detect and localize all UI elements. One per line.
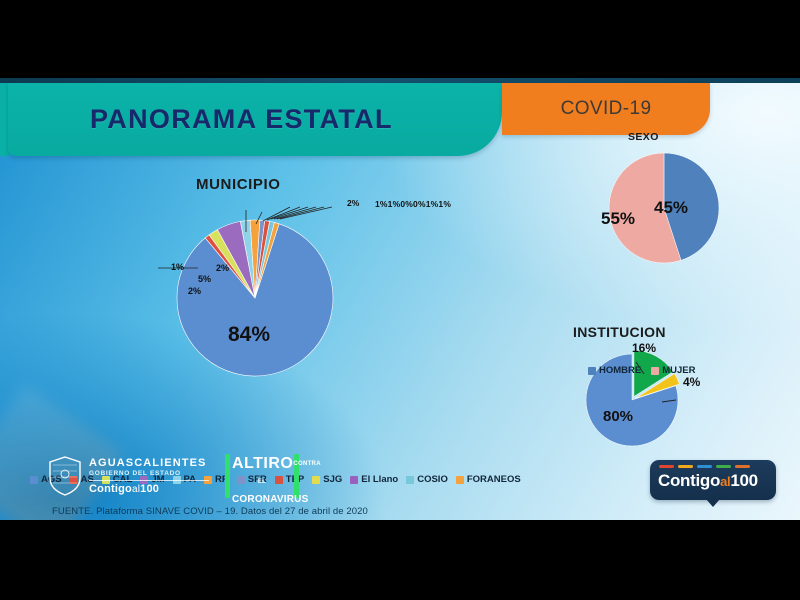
aguascalientes-wordmark: AGUASCALIENTES GOBIERNO DEL ESTADO Conti… <box>89 457 209 496</box>
legend-swatch-icon <box>350 476 358 484</box>
legend-label: HOMBRE <box>599 365 641 376</box>
legend-label: COSIO <box>417 474 448 485</box>
badge-tail <box>706 499 720 507</box>
slogan-main: Contigo <box>89 483 132 495</box>
altiro-left-bar <box>225 454 230 498</box>
footer-logos: AGUASCALIENTES GOBIERNO DEL ESTADO Conti… <box>48 454 299 498</box>
slogan: Contigoal100 <box>89 483 209 496</box>
institucion-label-issste: 4% <box>683 375 700 389</box>
sexo-label-hombre: 45% <box>654 198 688 218</box>
legend-label: SJG <box>323 474 342 485</box>
municipio-chart-title: MUNICIPIO <box>196 176 281 193</box>
legend-swatch-icon <box>406 476 414 484</box>
badge-main: Contigo <box>658 471 720 490</box>
altiro-coronavirus-logo: ALTIROCONTRA EL CORONAVIRUS <box>225 454 299 498</box>
letterbox-top <box>0 0 800 78</box>
institucion-label-imss: 16% <box>632 341 656 355</box>
municipio-pie-chart[interactable] <box>140 190 370 390</box>
badge-dash-0 <box>659 465 674 468</box>
municipio-label-top-row: 1%1%0%0%1%1% <box>375 199 451 209</box>
municipio-label-5pct: 5% <box>198 274 211 284</box>
altiro-title: ALTIROCONTRA EL <box>232 455 292 491</box>
municipio-label-2pct-left: 2% <box>188 286 201 296</box>
legend-item-sjg[interactable]: SJG <box>312 474 342 485</box>
page-title: PANORAMA ESTATAL <box>90 104 393 135</box>
covid19-tab[interactable]: COVID-19 <box>502 83 710 135</box>
contigo-al-100-badge: Contigoal100 <box>650 460 776 500</box>
legend-swatch-icon <box>651 367 659 375</box>
slide-content: PANORAMA ESTATAL COVID-19 MUNICIPIO SEXO… <box>0 78 800 520</box>
altiro-subtitle: CORONAVIRUS <box>232 494 292 506</box>
letterbox-bottom <box>0 520 800 600</box>
state-subtitle: GOBIERNO DEL ESTADO <box>89 469 209 478</box>
institucion-chart-title: INSTITUCION <box>573 324 666 340</box>
sexo-label-mujer: 55% <box>601 209 635 229</box>
slogan-num: 100 <box>140 483 159 495</box>
covid19-tab-label: COVID-19 <box>561 98 652 120</box>
badge-dash-2 <box>697 465 712 468</box>
legend-item-cosio[interactable]: COSIO <box>406 474 448 485</box>
municipio-label-2pct-top: 2% <box>347 198 359 208</box>
badge-num: 100 <box>730 471 757 490</box>
badge-color-dashes <box>659 465 750 468</box>
badge-wordmark: Contigoal100 <box>658 471 758 491</box>
divider-rule <box>89 480 209 481</box>
municipio-label-84pct: 84% <box>228 323 270 347</box>
badge-al: al <box>720 474 730 489</box>
institucion-pie-chart[interactable] <box>578 344 688 454</box>
municipio-pie-slices <box>177 220 333 376</box>
legend-swatch-icon <box>588 367 596 375</box>
light-streak-decoration <box>0 384 124 520</box>
legend-item-hombre[interactable]: HOMBRE <box>588 365 641 376</box>
slide-screenshot: PANORAMA ESTATAL COVID-19 MUNICIPIO SEXO… <box>0 0 800 600</box>
legend-swatch-icon <box>30 476 38 484</box>
legend-label: El Llano <box>361 474 398 485</box>
slogan-al: al <box>132 484 140 495</box>
legend-item-el-llano[interactable]: El Llano <box>350 474 398 485</box>
badge-dash-3 <box>716 465 731 468</box>
legend-item-foraneos[interactable]: FORANEOS <box>456 474 521 485</box>
municipio-label-1pct-left: 1% <box>171 262 184 272</box>
badge-dash-4 <box>735 465 750 468</box>
state-name: AGUASCALIENTES <box>89 457 209 469</box>
altiro-word: ALTIRO <box>232 455 293 472</box>
panorama-title-card: PANORAMA ESTATAL <box>8 83 502 156</box>
municipio-label-2pct-mid: 2% <box>216 263 229 273</box>
legend-swatch-icon <box>312 476 320 484</box>
badge-dash-1 <box>678 465 693 468</box>
legend-label: FORANEOS <box>467 474 521 485</box>
aguascalientes-shield-icon <box>48 456 82 496</box>
legend-swatch-icon <box>456 476 464 484</box>
sexo-chart-title: SEXO <box>628 131 659 143</box>
source-note: FUENTE. Plataforma SINAVE COVID – 19. Da… <box>52 506 368 517</box>
institucion-label-issea: 80% <box>603 408 633 425</box>
